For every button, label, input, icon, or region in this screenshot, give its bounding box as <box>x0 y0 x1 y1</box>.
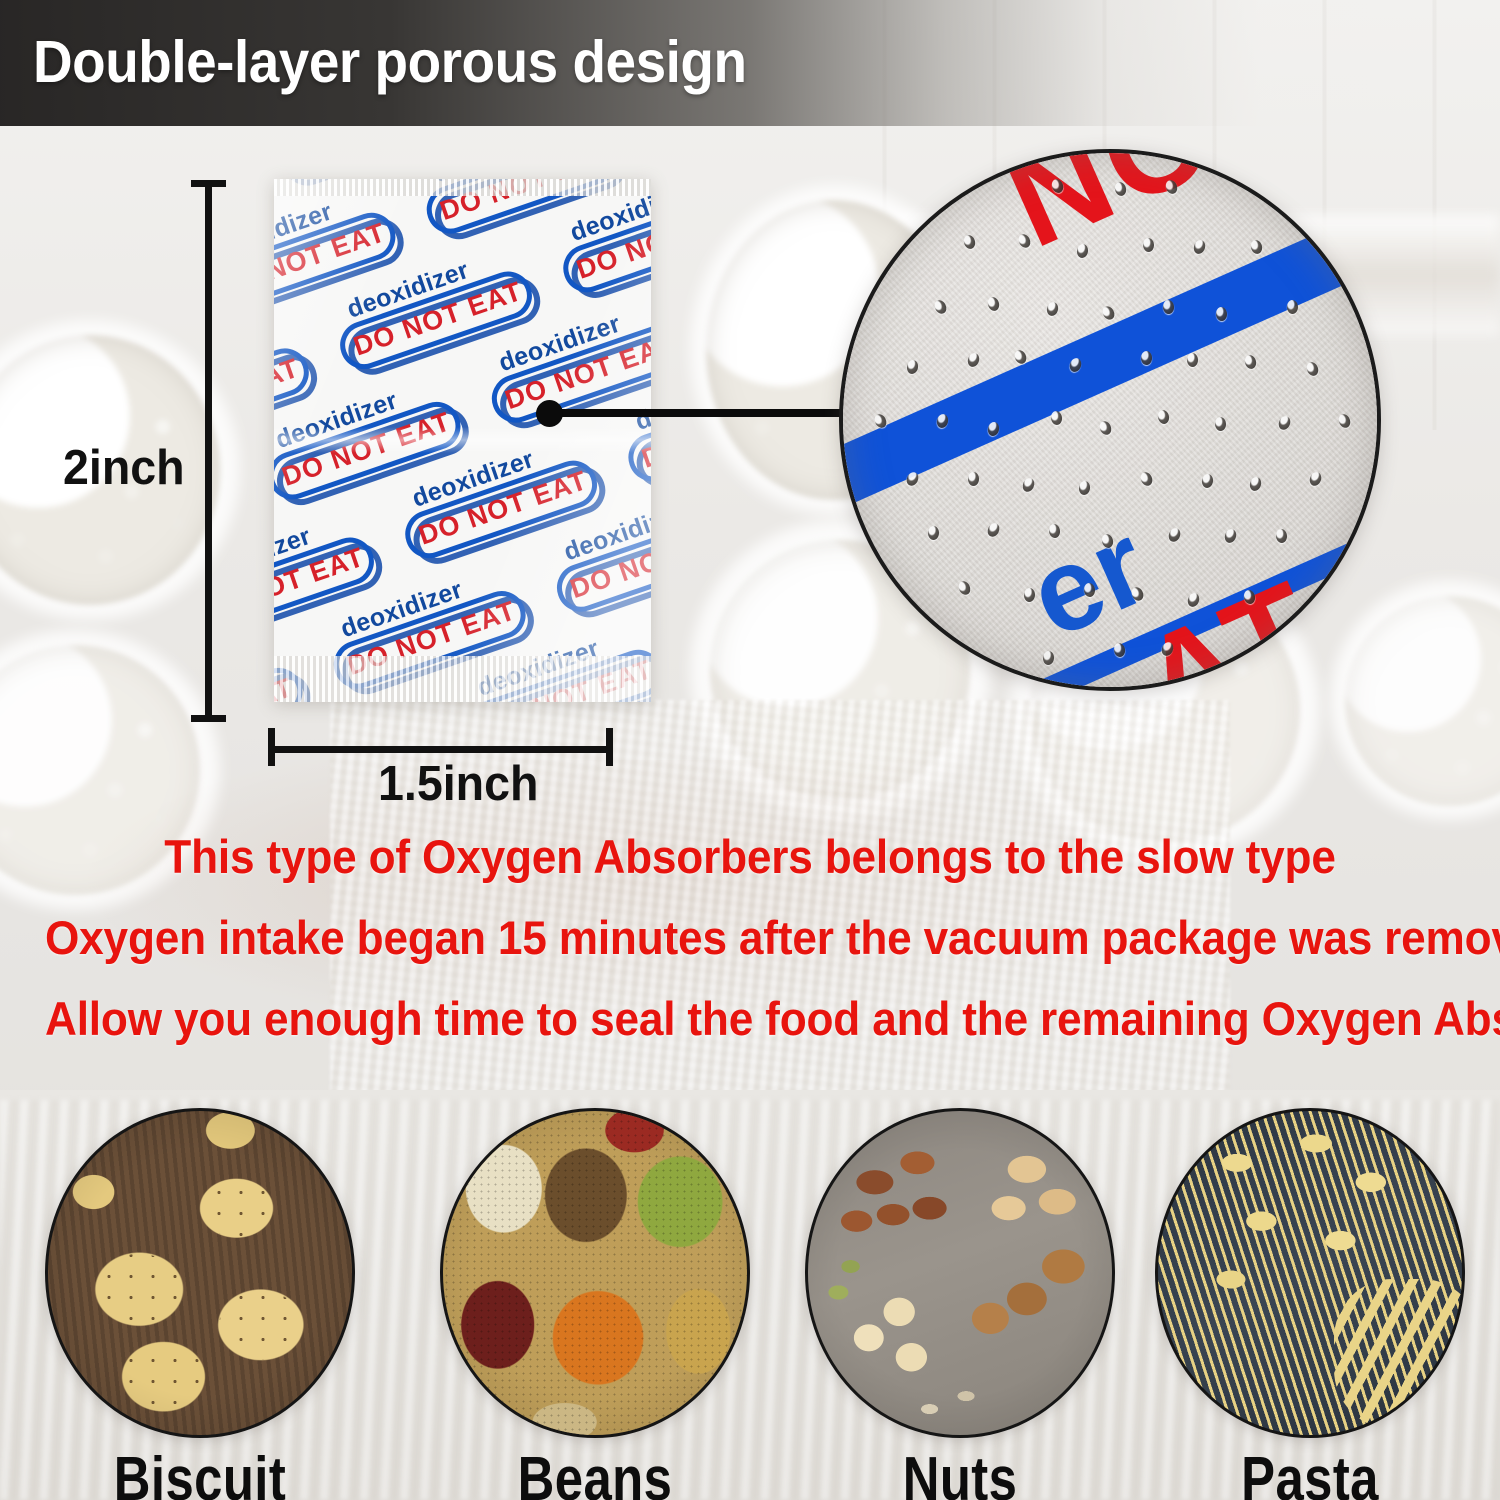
perforation-hole <box>1098 419 1114 436</box>
perforation-hole <box>933 298 949 316</box>
claim-line-3: Allow you enough time to seal the food a… <box>45 988 1455 1050</box>
perforation-hole <box>1277 414 1293 431</box>
perforation-hole <box>1078 480 1091 495</box>
height-dimension-cap-top <box>191 180 226 187</box>
claim-line-2: Oxygen intake began 15 minutes after the… <box>45 907 1455 969</box>
packet-print-pattern: deoxidizerDO NOT EATdeoxidizerDO NOT EAT… <box>274 179 651 702</box>
food-label-nuts: Nuts <box>833 1444 1087 1500</box>
food-image-shade <box>443 1111 747 1435</box>
page-title: Double-layer porous design <box>33 24 747 100</box>
perforation-hole <box>1248 476 1263 493</box>
perforation-hole <box>968 472 979 486</box>
perforation-hole <box>1160 640 1176 657</box>
perforation-hole <box>1305 360 1320 377</box>
width-dimension-cap-left <box>268 728 275 766</box>
food-image-shade <box>48 1111 352 1435</box>
height-dimension-cap-bottom <box>191 715 226 722</box>
perforation-hole <box>936 413 950 429</box>
perforation-hole <box>1215 416 1227 431</box>
perforation-hole <box>1250 239 1264 255</box>
perforation-hole <box>1275 528 1287 543</box>
magnifier-perforation-holes <box>843 153 1377 687</box>
perforation-hole <box>1223 528 1238 545</box>
perforation-hole <box>1048 523 1061 538</box>
magnified-detail-circle: NOT EA er AT <box>839 149 1381 691</box>
callout-leader-line <box>552 409 852 417</box>
perforation-hole <box>1157 409 1171 425</box>
perforation-hole <box>1084 582 1096 597</box>
perforation-hole <box>987 421 1001 437</box>
perforation-hole <box>1287 300 1298 314</box>
perforation-hole <box>1021 476 1037 493</box>
claims-block: This type of Oxygen Absorbers belongs to… <box>0 826 1500 1050</box>
food-label-pasta: Pasta <box>1183 1444 1437 1500</box>
food-image-beans <box>440 1108 750 1438</box>
perforation-hole <box>1141 351 1152 365</box>
product-infographic: Double-layer porous design deoxidizerDO … <box>0 0 1500 1500</box>
perforation-hole <box>1216 307 1228 322</box>
perforation-hole <box>1166 526 1182 543</box>
perforation-hole <box>1243 353 1257 369</box>
perforation-hole <box>1139 470 1155 487</box>
height-dimension-line <box>205 180 212 722</box>
food-image-pasta <box>1155 1108 1465 1438</box>
perforation-hole <box>1162 300 1174 315</box>
packet-crimp-bottom <box>274 656 651 702</box>
oxygen-absorber-packet: deoxidizerDO NOT EATdeoxidizerDO NOT EAT… <box>274 179 651 702</box>
food-examples-row: Biscuit Beans Nuts Pasta <box>0 1098 1500 1500</box>
perforation-hole <box>1187 353 1198 367</box>
perforation-hole <box>1043 650 1055 665</box>
food-image-shade <box>1158 1111 1462 1435</box>
perforation-hole <box>906 359 919 375</box>
width-dimension-cap-right <box>606 728 613 766</box>
perforation-hole <box>1012 348 1028 365</box>
header-banner: Double-layer porous design <box>0 0 1500 126</box>
perforation-hole <box>1050 411 1063 426</box>
width-dimension-label: 1.5inch <box>378 756 538 812</box>
food-image-nuts <box>805 1108 1115 1438</box>
perforation-hole <box>1143 238 1155 253</box>
callout-anchor-dot <box>536 400 563 427</box>
perforation-hole <box>1113 643 1126 659</box>
perforation-hole <box>957 580 973 597</box>
perforation-hole <box>1113 181 1127 197</box>
perforation-hole <box>985 522 1001 540</box>
food-image-biscuit <box>45 1108 355 1438</box>
width-dimension-line <box>268 746 613 753</box>
perforation-hole <box>1164 179 1179 196</box>
perforation-hole <box>1101 304 1118 322</box>
perforation-hole <box>963 234 978 251</box>
perforation-hole <box>966 351 981 368</box>
packet-crimp-top <box>274 179 651 196</box>
perforation-hole <box>1100 532 1114 548</box>
perforation-hole <box>1308 471 1324 488</box>
perforation-hole <box>904 471 920 489</box>
perforation-hole <box>1017 233 1033 250</box>
perforation-hole <box>1068 356 1083 373</box>
food-label-biscuit: Biscuit <box>73 1444 327 1500</box>
food-label-beans: Beans <box>468 1444 722 1500</box>
perforation-hole <box>986 295 1001 312</box>
perforation-hole <box>1243 589 1257 605</box>
perforation-hole <box>1129 585 1145 603</box>
perforation-hole <box>1024 588 1036 603</box>
perforation-hole <box>927 526 938 540</box>
perforation-hole <box>1192 239 1207 256</box>
perforation-hole <box>1076 243 1089 259</box>
food-image-shade <box>808 1111 1112 1435</box>
perforation-hole <box>1201 473 1214 489</box>
perforation-hole <box>872 412 888 430</box>
perforation-hole <box>1337 412 1353 429</box>
height-dimension-label: 2inch <box>63 440 185 496</box>
perforation-hole <box>1050 178 1065 195</box>
claim-line-1: This type of Oxygen Absorbers belongs to… <box>45 826 1455 888</box>
perforation-hole <box>1186 591 1201 608</box>
perforation-hole <box>1046 301 1060 317</box>
